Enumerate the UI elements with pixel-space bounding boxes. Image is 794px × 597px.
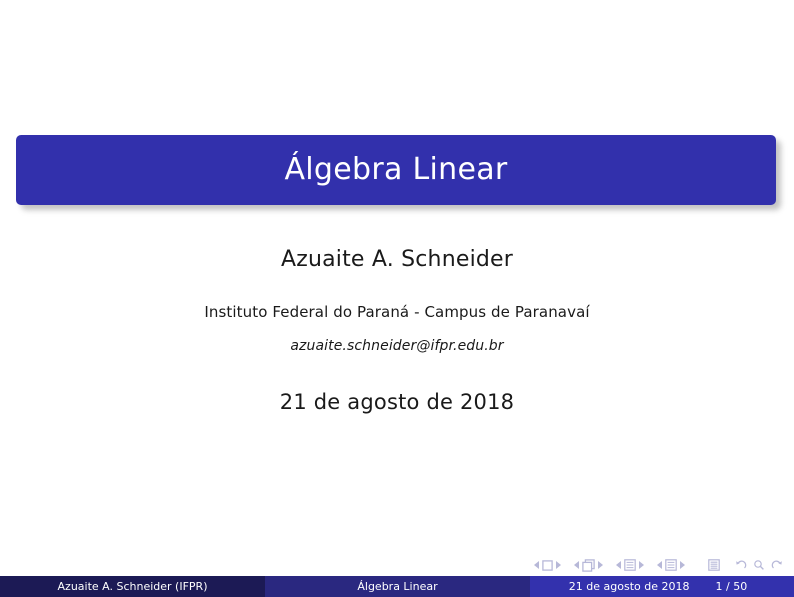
next-subsection-triangle-icon[interactable] bbox=[638, 561, 644, 569]
magnifier-icon[interactable] bbox=[753, 559, 765, 571]
section-nav-group[interactable] bbox=[655, 559, 687, 571]
subsection-lines-icon[interactable] bbox=[624, 559, 636, 571]
author-email: azuaite.schneider@ifpr.edu.br bbox=[0, 338, 794, 354]
overlapping-squares-icon[interactable] bbox=[582, 559, 595, 572]
next-frame-triangle-icon[interactable] bbox=[597, 561, 603, 569]
footer-title: Álgebra Linear bbox=[265, 576, 530, 597]
beamer-navigation-symbols[interactable] bbox=[532, 556, 786, 574]
next-section-triangle-icon[interactable] bbox=[679, 561, 685, 569]
footer-page-number: 1 / 50 bbox=[716, 580, 748, 593]
title-block: Álgebra Linear bbox=[16, 135, 776, 205]
next-slide-triangle-icon[interactable] bbox=[555, 561, 561, 569]
presentation-slide: Álgebra Linear Azuaite A. Schneider Inst… bbox=[0, 0, 794, 597]
frame-nav-group[interactable] bbox=[572, 559, 605, 572]
square-outline-icon[interactable] bbox=[542, 560, 553, 571]
document-nav-group[interactable] bbox=[705, 559, 723, 571]
section-lines-icon[interactable] bbox=[665, 559, 677, 571]
author-name: Azuaite A. Schneider bbox=[0, 247, 794, 272]
footer-date: 21 de agosto de 2018 bbox=[569, 580, 690, 593]
institute-name: Instituto Federal do Paraná - Campus de … bbox=[0, 303, 794, 321]
title-block-panel: Álgebra Linear bbox=[16, 135, 776, 205]
slide-nav-group[interactable] bbox=[532, 560, 563, 571]
redo-arrow-icon[interactable] bbox=[771, 559, 783, 571]
prev-frame-triangle-icon[interactable] bbox=[574, 561, 580, 569]
prev-section-triangle-icon[interactable] bbox=[657, 561, 663, 569]
history-nav-group[interactable] bbox=[732, 559, 786, 571]
document-lines-icon[interactable] bbox=[708, 559, 720, 571]
prev-slide-triangle-icon[interactable] bbox=[534, 561, 540, 569]
footer-right-section: 21 de agosto de 2018 1 / 50 bbox=[530, 576, 794, 597]
prev-subsection-triangle-icon[interactable] bbox=[616, 561, 622, 569]
presentation-date: 21 de agosto de 2018 bbox=[0, 390, 794, 414]
subsection-nav-group[interactable] bbox=[614, 559, 646, 571]
undo-arrow-icon[interactable] bbox=[735, 559, 747, 571]
footer-bar: Azuaite A. Schneider (IFPR) Álgebra Line… bbox=[0, 576, 794, 597]
page-title: Álgebra Linear bbox=[284, 155, 507, 185]
footer-author: Azuaite A. Schneider (IFPR) bbox=[0, 576, 265, 597]
